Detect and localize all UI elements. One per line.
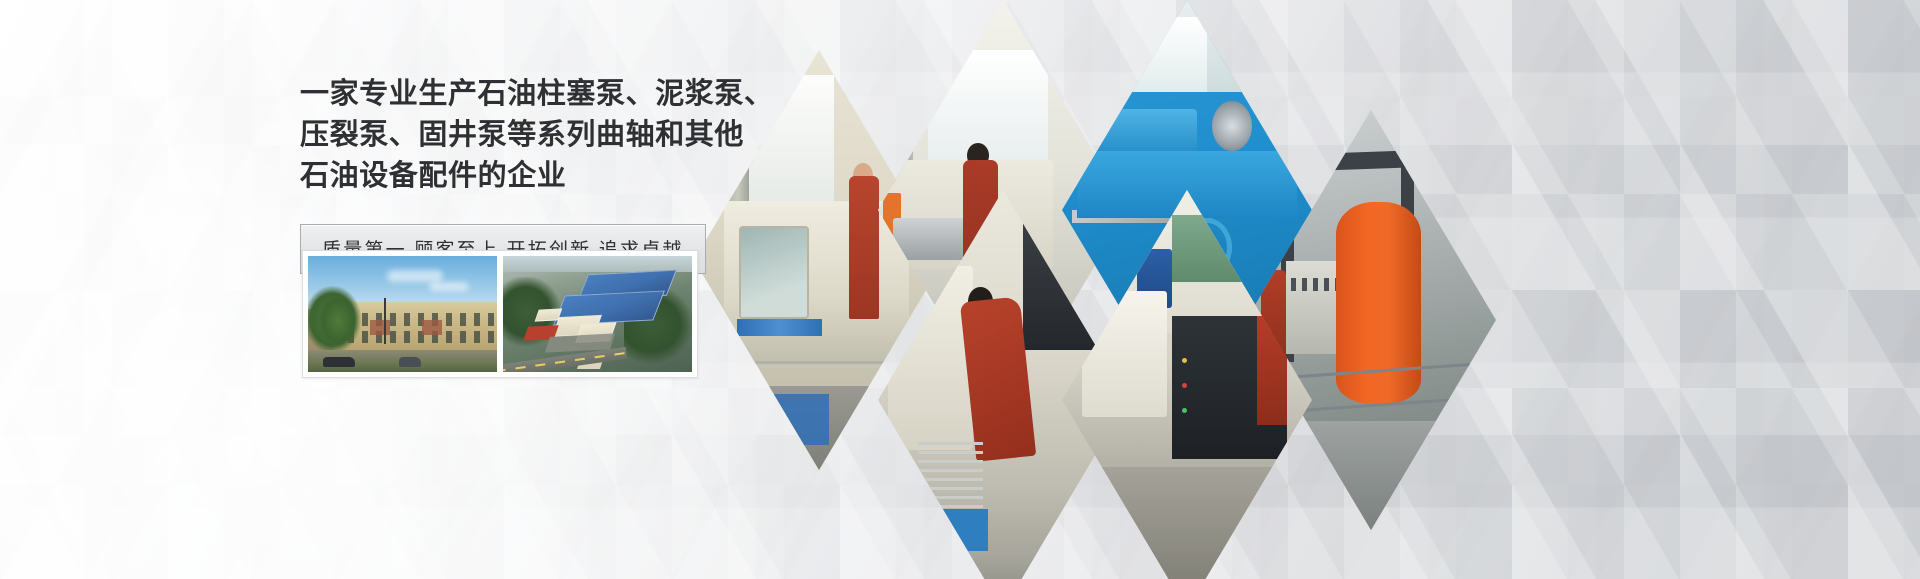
parked-car — [323, 357, 355, 367]
roof-beam — [1261, 148, 1471, 172]
lathe-chuck — [1212, 101, 1252, 151]
road-center-line — [503, 352, 627, 372]
diamond-photo-collage — [690, 22, 1600, 542]
access-stairs — [918, 442, 983, 518]
headline-line-3: 石油设备配件的企业 — [300, 156, 720, 197]
workshop-floor — [1062, 467, 1312, 579]
workshop-window — [1132, 17, 1207, 93]
headline-line-2: 压裂泵、固井泵等系列曲轴和其他 — [300, 115, 720, 156]
control-cabinet — [1286, 261, 1341, 353]
brick-accent-panel-2 — [422, 320, 442, 335]
factory-aerial-photo[interactable] — [503, 256, 692, 372]
headline-line-1: 一家专业生产石油柱塞泵、泥浆泵、 — [300, 74, 720, 115]
parked-car-2 — [399, 357, 422, 367]
machine-spindle — [893, 218, 973, 260]
safety-rail — [719, 361, 909, 364]
banner-copy-block: 一家专业生产石油柱塞泵、泥浆泵、 压裂泵、固井泵等系列曲轴和其他 石油设备配件的… — [300, 74, 720, 274]
blue-machine-base — [729, 394, 829, 444]
lamp-post — [384, 298, 386, 344]
cloud-shape-2 — [429, 282, 469, 291]
machine-view-window — [739, 226, 809, 318]
white-machine-housing — [1082, 291, 1167, 417]
office-building-photo[interactable] — [308, 256, 497, 372]
machine-label-strip — [737, 319, 822, 336]
brick-accent-panel — [370, 320, 390, 335]
photo-thumbnail-strip — [302, 250, 698, 378]
workshop-window — [928, 50, 1048, 159]
hero-banner: 一家专业生产石油柱塞泵、泥浆泵、 压裂泵、固井泵等系列曲轴和其他 石油设备配件的… — [0, 0, 1920, 579]
cabinet-gauge-row — [1291, 278, 1336, 291]
banner-headline: 一家专业生产石油柱塞泵、泥浆泵、 压裂泵、固井泵等系列曲轴和其他 石油设备配件的… — [300, 74, 720, 197]
workshop-floor — [878, 551, 1128, 579]
worker-red-uniform — [849, 176, 879, 319]
cloud-shape — [387, 270, 443, 282]
indicator-light-yellow — [1182, 358, 1187, 363]
tree-foliage-2 — [319, 295, 357, 346]
